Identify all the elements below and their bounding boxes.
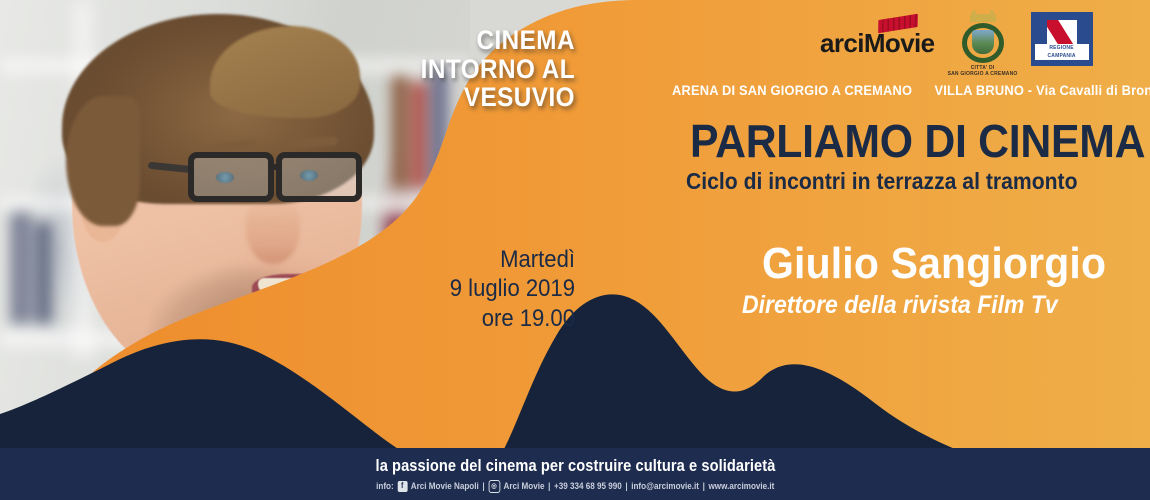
comune-san-giorgio-logo: CITTA' DI SAN GIORGIO A CREMANO: [955, 14, 1011, 78]
event-date-block: Martedì 9 luglio 2019 ore 19.00: [386, 245, 575, 333]
campania-label: REGIONE CAMPANIA: [1035, 44, 1089, 60]
event-weekday: Martedì: [386, 245, 575, 274]
event-banner: CINEMA INTORNO AL VESUVIO Martedì 9 lugl…: [0, 0, 1150, 500]
separator: |: [482, 481, 484, 491]
campania-emblem: REGIONE CAMPANIA: [1031, 12, 1093, 66]
festival-title-line-1: CINEMA: [382, 26, 576, 55]
facebook-icon[interactable]: f: [397, 481, 407, 492]
event-date: 9 luglio 2019: [386, 274, 575, 303]
footer-tagline: la passione del cinema per costruire cul…: [375, 456, 775, 476]
festival-title: CINEMA INTORNO AL VESUVIO: [382, 26, 576, 112]
guest-role: Direttore della rivista Film Tv: [742, 293, 1058, 318]
regione-campania-logo: REGIONE CAMPANIA: [1031, 12, 1093, 66]
event-time: ore 19.00: [386, 304, 575, 333]
separator: |: [548, 481, 550, 491]
festival-title-line-3: VESUVIO: [382, 83, 576, 112]
footer-contact-line: info: f Arci Movie Napoli | ◎ Arci Movie…: [376, 480, 774, 493]
event-subtitle: Ciclo di incontri in terrazza al tramont…: [686, 170, 1078, 193]
arcimovie-logo: arciMovie: [820, 30, 935, 56]
guest-name: Giulio Sangiorgio: [762, 242, 1106, 286]
arcimovie-wordmark: arciMovie: [820, 30, 935, 56]
crest-icon: [962, 23, 1004, 63]
event-title: PARLIAMO DI CINEMA: [690, 118, 1145, 164]
comune-label-line-2: SAN GIORGIO A CREMANO: [948, 71, 1018, 77]
info-label: info:: [376, 481, 394, 491]
venue-line: ARENA DI SAN GIORGIO A CREMANO VILLA BRU…: [672, 82, 1150, 98]
shield-icon: [972, 30, 994, 54]
festival-title-line-2: INTORNO AL: [382, 55, 576, 84]
separator: |: [702, 481, 704, 491]
phone-number[interactable]: +39 334 68 95 990: [554, 481, 622, 491]
email-address[interactable]: info@arcimovie.it: [631, 481, 699, 491]
separator: |: [625, 481, 627, 491]
venue-arena: ARENA DI SAN GIORGIO A CREMANO: [672, 82, 912, 98]
crown-icon: [970, 14, 996, 22]
facebook-handle[interactable]: Arci Movie Napoli: [411, 481, 479, 491]
website-url[interactable]: www.arcimovie.it: [708, 481, 774, 491]
footer-bar: la passione del cinema per costruire cul…: [0, 448, 1150, 500]
logo-row: arciMovie CITTA' DI SAN GIORGIO A CREMAN…: [820, 8, 1093, 78]
instagram-handle[interactable]: Arci Movie: [503, 481, 544, 491]
venue-address: VILLA BRUNO - Via Cavalli di Bronzo, 22: [934, 82, 1150, 98]
instagram-icon[interactable]: ◎: [488, 480, 500, 493]
comune-label: CITTA' DI SAN GIORGIO A CREMANO: [948, 65, 1018, 78]
